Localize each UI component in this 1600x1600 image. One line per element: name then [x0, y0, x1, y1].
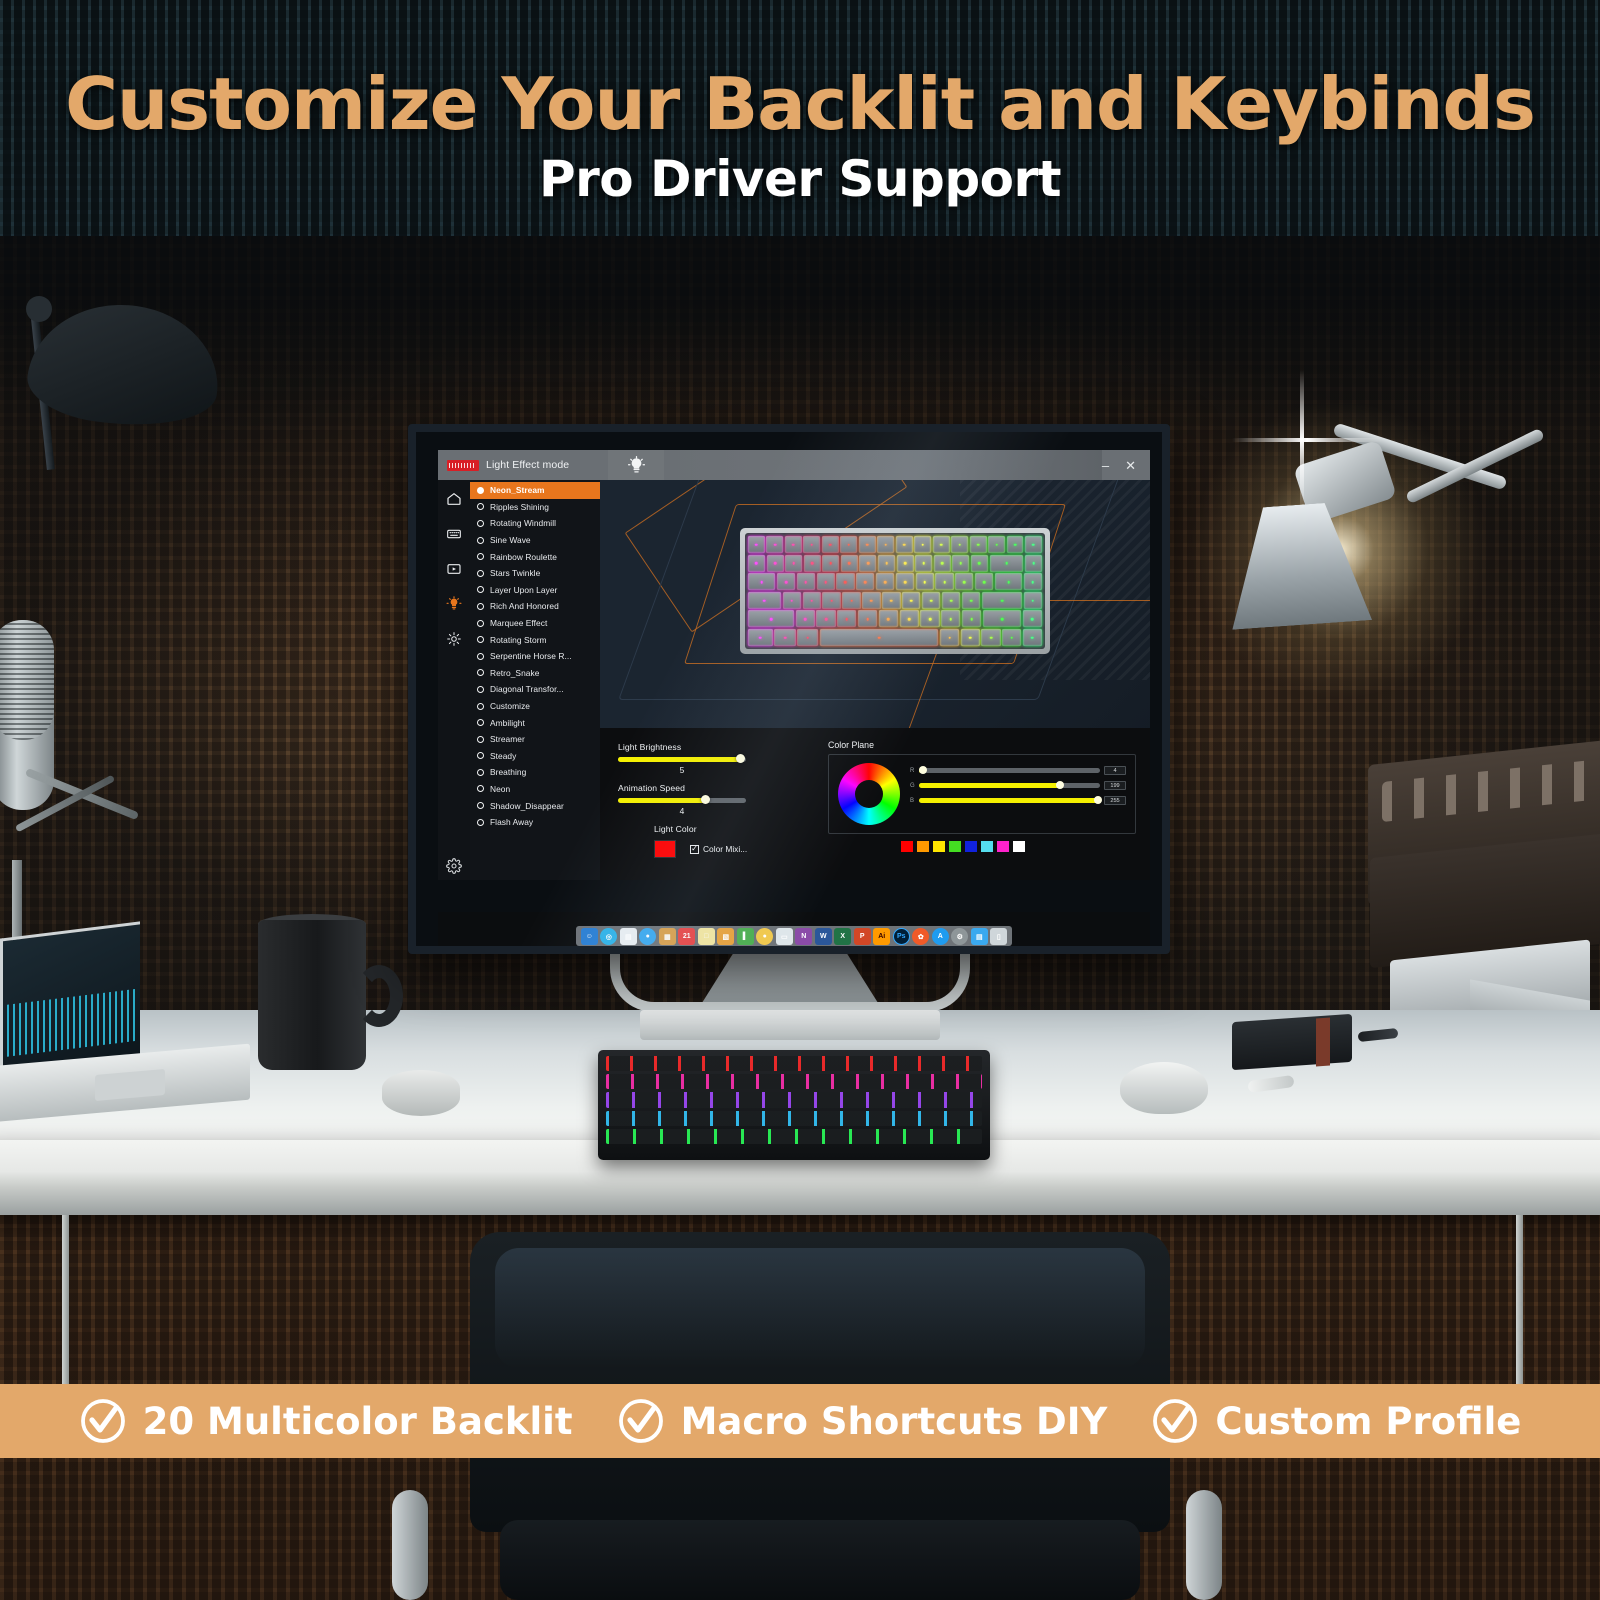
- key-led: [978, 562, 981, 565]
- key-led: [995, 544, 998, 547]
- speed-label: Animation Speed: [618, 783, 820, 793]
- effect-item[interactable]: Marquee Effect: [470, 615, 600, 632]
- dock-icon-glyph: N: [801, 933, 806, 940]
- promo-subheadline: Pro Driver Support: [0, 150, 1600, 208]
- effect-item[interactable]: Retro_Snake: [470, 665, 600, 682]
- dock-icon-glyph: A: [938, 933, 943, 940]
- color-swatch[interactable]: [996, 840, 1010, 853]
- radio-icon[interactable]: [477, 719, 484, 726]
- keycap: [748, 573, 775, 590]
- keycap: [777, 573, 795, 590]
- dock-item-pages[interactable]: ▭: [776, 928, 793, 945]
- rgb-slider-knob[interactable]: [919, 766, 927, 774]
- titlebar-brand-area: Light Effect mode: [438, 450, 608, 480]
- key-led: [806, 637, 809, 640]
- dock-item-illustrator[interactable]: Ai: [873, 928, 890, 945]
- dock-item-word[interactable]: W: [815, 928, 832, 945]
- dock-item-files[interactable]: ▧: [717, 928, 734, 945]
- effect-item[interactable]: Streamer: [470, 731, 600, 748]
- effect-item[interactable]: Flash Away: [470, 814, 600, 831]
- effect-item-label: Shadow_Disappear: [490, 801, 564, 811]
- key-led: [1007, 581, 1010, 584]
- key-led: [1031, 637, 1034, 640]
- app-title: Light Effect mode: [486, 459, 569, 471]
- keycap: [882, 592, 900, 609]
- radio-icon[interactable]: [477, 553, 484, 560]
- mug-handle: [355, 965, 403, 1027]
- keycap: [820, 629, 939, 646]
- checkbox-box: ✓: [690, 845, 699, 854]
- effect-item-label: Neon: [490, 784, 510, 794]
- rgb-slider[interactable]: [919, 783, 1100, 788]
- color-swatch[interactable]: [1012, 840, 1026, 853]
- effect-item-label: Steady: [490, 751, 516, 761]
- keycap: [962, 592, 980, 609]
- radio-icon[interactable]: [477, 819, 484, 826]
- key-led: [908, 618, 911, 621]
- keycap: [940, 629, 959, 646]
- radio-icon[interactable]: [477, 487, 484, 494]
- effect-item[interactable]: Ripples Shining: [470, 499, 600, 516]
- key-led: [990, 637, 993, 640]
- key-led: [804, 618, 807, 621]
- preset-color-swatches[interactable]: [900, 840, 1136, 853]
- rgb-slider-knob[interactable]: [1094, 796, 1102, 804]
- rgb-channel-list[interactable]: R4G199B255: [910, 763, 1126, 825]
- keycap: [935, 573, 953, 590]
- keycap: [896, 536, 913, 553]
- dock-icon-glyph: ▤: [625, 933, 632, 941]
- effect-item[interactable]: Rotating Storm: [470, 631, 600, 648]
- rgb-slider[interactable]: [919, 768, 1100, 773]
- dock-item-powerpoint[interactable]: P: [854, 928, 871, 945]
- key-led: [830, 599, 833, 602]
- key-led: [884, 581, 887, 584]
- effect-item-label: Rainbow Roulette: [490, 552, 557, 562]
- key-led: [811, 544, 814, 547]
- key-led: [950, 618, 953, 621]
- keycap: [1024, 592, 1042, 609]
- radio-icon[interactable]: [477, 653, 484, 660]
- sidebar-item-macro[interactable]: [445, 559, 464, 578]
- radio-icon[interactable]: [477, 636, 484, 643]
- color-wheel[interactable]: [838, 763, 900, 825]
- radio-icon[interactable]: [477, 703, 484, 710]
- keycap: [879, 610, 898, 627]
- effect-item-label: Marquee Effect: [490, 618, 547, 628]
- brightness-speed-column: Light Brightness 5 Animation Speed 4 L: [600, 728, 820, 880]
- keycap: [902, 592, 920, 609]
- check-circle-icon: [79, 1397, 127, 1445]
- effect-item-label: Layer Upon Layer: [490, 585, 557, 595]
- left-lamp-pivot: [26, 296, 52, 322]
- color-swatch[interactable]: [932, 840, 946, 853]
- keycap: [817, 573, 835, 590]
- sidebar-item-keyboard[interactable]: [445, 524, 464, 543]
- dock-items[interactable]: ☺◎▤●▦21□▧▌●▭NWXPAiPs✿A⚙▤▯: [576, 926, 1013, 946]
- dock-icon-glyph: □: [704, 933, 708, 940]
- dock-icon-glyph: ▌: [743, 933, 748, 940]
- feature-item: 20 Multicolor Backlit: [79, 1397, 573, 1445]
- keycap: [877, 536, 894, 553]
- dock-icon-glyph: ▤: [976, 933, 983, 941]
- rgb-channel-row[interactable]: G199: [910, 781, 1126, 790]
- keycap: [920, 610, 939, 627]
- dock-item-preferences[interactable]: ⚙: [951, 928, 968, 945]
- effect-item-label: Flash Away: [490, 817, 533, 827]
- radio-icon[interactable]: [477, 785, 484, 792]
- keycap: [951, 536, 968, 553]
- dock-icon-glyph: 21: [683, 933, 691, 940]
- color-swatch[interactable]: [900, 840, 914, 853]
- key-led: [948, 637, 951, 640]
- color-swatch[interactable]: [948, 840, 962, 853]
- keycap: [975, 573, 993, 590]
- light-color-row: ✓ Color Mixi...: [654, 840, 820, 858]
- app-titlebar: Light Effect mode – ✕: [438, 450, 1150, 480]
- light-color-label: Light Color: [654, 824, 820, 834]
- key-led: [1032, 562, 1035, 565]
- effect-item[interactable]: Diagonal Transfor...: [470, 681, 600, 698]
- key-led: [825, 618, 828, 621]
- dock-item-trash[interactable]: ▯: [990, 928, 1007, 945]
- radio-icon[interactable]: [477, 520, 484, 527]
- keycap: [941, 610, 960, 627]
- dock-item-photoshop[interactable]: Ps: [893, 928, 910, 945]
- radio-icon[interactable]: [477, 503, 484, 510]
- color-plane-box: R4G199B255: [828, 754, 1136, 834]
- minimize-button[interactable]: –: [1102, 459, 1109, 472]
- keycap: [858, 610, 877, 627]
- dock-item-photos[interactable]: ✿: [912, 928, 929, 945]
- key-led: [810, 599, 813, 602]
- keycap: [797, 629, 818, 646]
- lightbulb-icon[interactable]: [608, 450, 664, 480]
- key-led: [1032, 581, 1035, 584]
- dock-icon-glyph: ▭: [781, 933, 788, 941]
- keycap: [856, 573, 874, 590]
- key-led: [870, 599, 873, 602]
- titlebar-filler: [664, 450, 1102, 480]
- dock-item-launchpad[interactable]: ●: [639, 928, 656, 945]
- keycap: [961, 629, 980, 646]
- rgb-value-box[interactable]: 4: [1104, 766, 1126, 775]
- computer-mouse: [1120, 1062, 1208, 1114]
- dock-icon-glyph: P: [860, 933, 865, 940]
- key-led: [922, 562, 925, 565]
- dock-item-appstore[interactable]: A: [932, 928, 949, 945]
- keycap: [803, 592, 821, 609]
- keycap: [783, 592, 801, 609]
- sidebar-item-settings[interactable]: [445, 861, 464, 880]
- macos-dock[interactable]: ☺◎▤●▦21□▧▌●▭NWXPAiPs✿A⚙▤▯: [438, 912, 1150, 946]
- key-led: [885, 562, 888, 565]
- key-led: [904, 581, 907, 584]
- effect-item[interactable]: Breathing: [470, 764, 600, 781]
- notebook-band: [1316, 1018, 1330, 1067]
- effect-item[interactable]: Sine Wave: [470, 532, 600, 549]
- keycap: [955, 573, 973, 590]
- effect-item[interactable]: Rainbow Roulette: [470, 548, 600, 565]
- keyboard-preview[interactable]: [740, 528, 1050, 654]
- radio-icon[interactable]: [477, 620, 484, 627]
- speed-slider[interactable]: [618, 798, 746, 803]
- keycap: [859, 536, 876, 553]
- effect-item-label: Rotating Storm: [490, 635, 547, 645]
- rgb-channel-letter: G: [910, 783, 915, 789]
- close-button[interactable]: ✕: [1125, 459, 1136, 472]
- color-swatch[interactable]: [980, 840, 994, 853]
- effect-item-label: Stars Twinkle: [490, 568, 540, 578]
- effect-item-label: Ripples Shining: [490, 502, 549, 512]
- brightness-value: 5: [618, 765, 746, 775]
- keycap: [900, 610, 919, 627]
- dock-icon-glyph: W: [820, 933, 827, 940]
- effect-item-label: Diagonal Transfor...: [490, 684, 564, 694]
- key-led: [929, 618, 932, 621]
- effect-item[interactable]: Layer Upon Layer: [470, 582, 600, 599]
- rgb-slider[interactable]: [919, 798, 1100, 803]
- keycap: [995, 573, 1022, 590]
- key-led: [884, 544, 887, 547]
- chair-highlight: [495, 1248, 1145, 1368]
- speed-knob[interactable]: [701, 795, 710, 804]
- rgb-slider-fill: [919, 783, 1060, 788]
- effect-item-label: Retro_Snake: [490, 668, 539, 678]
- color-mixing-label: Color Mixi...: [703, 844, 747, 854]
- keycap: [785, 555, 802, 572]
- effect-item[interactable]: Ambilight: [470, 714, 600, 731]
- dock-icon-glyph: ●: [646, 933, 650, 940]
- keycap: [785, 536, 802, 553]
- keycap: [982, 592, 1022, 609]
- lamp-flare-horizontal: [1232, 438, 1382, 442]
- key-led: [943, 581, 946, 584]
- radio-icon[interactable]: [477, 686, 484, 693]
- light-color-swatch[interactable]: [654, 840, 676, 858]
- sidebar-item-home[interactable]: [445, 489, 464, 508]
- laptop-audio-waveform: [7, 989, 137, 1057]
- feature-item: Custom Profile: [1151, 1397, 1521, 1445]
- rgb-slider-fill: [919, 798, 1098, 803]
- key-led: [792, 562, 795, 565]
- feature-item: Macro Shortcuts DIY: [617, 1397, 1108, 1445]
- feature-label: 20 Multicolor Backlit: [143, 1400, 573, 1443]
- radio-icon[interactable]: [477, 586, 484, 593]
- dock-item-notes[interactable]: ▦: [659, 928, 676, 945]
- dock-icon-glyph: ●: [763, 933, 767, 940]
- key-led: [960, 562, 963, 565]
- radio-icon[interactable]: [477, 769, 484, 776]
- effect-item[interactable]: Steady: [470, 748, 600, 765]
- keycap: [748, 592, 781, 609]
- keycap: [942, 592, 960, 609]
- chair-armrest-right: [1186, 1490, 1222, 1600]
- lightbulb-icon: [446, 596, 462, 612]
- effect-item[interactable]: Neon_Stream: [470, 482, 600, 499]
- keycap: [952, 555, 969, 572]
- physical-rgb-keyboard: [598, 1050, 990, 1160]
- effect-item[interactable]: Stars Twinkle: [470, 565, 600, 582]
- dock-icon-glyph: X: [840, 933, 845, 940]
- keycap: [862, 592, 880, 609]
- effect-item[interactable]: Shadow_Disappear: [470, 797, 600, 814]
- rgb-value-box[interactable]: 199: [1104, 781, 1126, 790]
- feature-label: Custom Profile: [1215, 1400, 1521, 1443]
- keycap: [916, 573, 934, 590]
- radio-icon[interactable]: [477, 570, 484, 577]
- keyboard-row: [748, 629, 1042, 646]
- effect-item-label: Neon_Stream: [490, 485, 545, 495]
- radio-icon[interactable]: [477, 736, 484, 743]
- rgb-channel-row[interactable]: B255: [910, 796, 1126, 805]
- keycap: [822, 536, 839, 553]
- brightness-fill: [618, 757, 741, 762]
- dock-item-qq[interactable]: ●: [756, 928, 773, 945]
- key-led: [970, 618, 973, 621]
- effect-item-label: Serpentine Horse R...: [490, 651, 572, 661]
- color-plane-column: Color Plane R4G199B255: [820, 728, 1150, 880]
- key-led: [1032, 599, 1035, 602]
- keycap: [1023, 629, 1042, 646]
- keycap: [822, 592, 840, 609]
- sidebar-item-lighting-settings[interactable]: [445, 629, 464, 648]
- dock-item-downloads[interactable]: ▤: [971, 928, 988, 945]
- dock-item-numbers[interactable]: ▌: [737, 928, 754, 945]
- key-led: [1005, 562, 1008, 565]
- key-led: [921, 544, 924, 547]
- keyboard-row: [748, 592, 1042, 609]
- window-controls: – ✕: [1102, 450, 1150, 480]
- keycap: [876, 573, 894, 590]
- keycap: [841, 555, 858, 572]
- macro-icon: [446, 561, 462, 577]
- keycap: [836, 573, 854, 590]
- settings-panel: Light Brightness 5 Animation Speed 4 L: [600, 728, 1150, 880]
- rgb-value-box[interactable]: 255: [1104, 796, 1126, 805]
- key-led: [969, 637, 972, 640]
- keycap: [922, 592, 940, 609]
- radio-icon[interactable]: [477, 603, 484, 610]
- key-led: [763, 599, 766, 602]
- key-led: [878, 637, 881, 640]
- brightness-slider[interactable]: [618, 757, 746, 762]
- key-led: [923, 581, 926, 584]
- rgb-slider-knob[interactable]: [1056, 781, 1064, 789]
- radio-icon[interactable]: [477, 752, 484, 759]
- keycap: [1023, 610, 1042, 627]
- effect-item-label: Streamer: [490, 734, 525, 744]
- effect-item[interactable]: Neon: [470, 781, 600, 798]
- keyboard-row: [748, 536, 1042, 553]
- monitor-base: [640, 1010, 940, 1040]
- radio-icon[interactable]: [477, 802, 484, 809]
- dock-icon-glyph: ▦: [664, 933, 671, 941]
- dock-icon-glyph: ◎: [606, 933, 612, 941]
- color-mixing-checkbox[interactable]: ✓ Color Mixi...: [690, 844, 747, 854]
- effect-item[interactable]: Rotating Windmill: [470, 515, 600, 532]
- keycap: [767, 555, 784, 572]
- radio-icon[interactable]: [477, 537, 484, 544]
- dock-item-contacts[interactable]: ▤: [620, 928, 637, 945]
- key-led: [950, 599, 953, 602]
- keycap: [837, 610, 856, 627]
- effect-item-label: Rich And Honored: [490, 601, 559, 611]
- keycap: [1002, 629, 1021, 646]
- effect-item[interactable]: Serpentine Horse R...: [470, 648, 600, 665]
- dock-item-calendar[interactable]: 21: [678, 928, 695, 945]
- key-led: [790, 599, 793, 602]
- gear-icon: [446, 858, 462, 874]
- keycap: [1007, 536, 1024, 553]
- effect-item[interactable]: Rich And Honored: [470, 598, 600, 615]
- key-led: [970, 599, 973, 602]
- key-led: [1032, 544, 1035, 547]
- desktop-monitor: Light Effect mode – ✕: [408, 424, 1170, 954]
- rgb-channel-row[interactable]: R4: [910, 766, 1126, 775]
- chair-seat: [500, 1520, 1140, 1600]
- dock-item-stickies[interactable]: □: [698, 928, 715, 945]
- light-effect-list[interactable]: Neon_StreamRipples ShiningRotating Windm…: [470, 480, 600, 880]
- keycap: [796, 610, 815, 627]
- key-led: [890, 599, 893, 602]
- dock-item-onenote[interactable]: N: [795, 928, 812, 945]
- key-led: [848, 562, 851, 565]
- brightness-label: Light Brightness: [618, 742, 820, 752]
- key-led: [1001, 618, 1004, 621]
- rgb-driver-application[interactable]: Light Effect mode – ✕: [438, 450, 1150, 880]
- keycap: [971, 555, 988, 572]
- keycap: [804, 555, 821, 572]
- coffee-mug: [258, 920, 366, 1070]
- dock-item-excel[interactable]: X: [834, 928, 851, 945]
- keycap: [934, 555, 951, 572]
- key-led: [792, 544, 795, 547]
- brightness-knob[interactable]: [736, 754, 745, 763]
- key-led: [785, 581, 788, 584]
- rk-logo-icon: [447, 460, 479, 471]
- microphone-grill: [0, 620, 54, 740]
- dock-icon-glyph: Ps: [897, 933, 906, 940]
- check-circle-icon: [617, 1397, 665, 1445]
- keycap: [981, 629, 1000, 646]
- sidebar-item-light-effect[interactable]: [445, 594, 464, 613]
- keyboard-row: [748, 573, 1042, 590]
- color-swatch[interactable]: [916, 840, 930, 853]
- dock-item-safari[interactable]: ◎: [600, 928, 617, 945]
- keycap: [983, 610, 1021, 627]
- color-swatch[interactable]: [964, 840, 978, 853]
- check-circle-icon: [1151, 1397, 1199, 1445]
- keycap: [859, 555, 876, 572]
- lamp-flare-vertical: [1300, 370, 1304, 510]
- keycap: [840, 536, 857, 553]
- key-led: [774, 562, 777, 565]
- desk-leg-left: [62, 1215, 69, 1405]
- key-led: [910, 599, 913, 602]
- keycap: [897, 555, 914, 572]
- effect-item-label: Sine Wave: [490, 535, 531, 545]
- effect-item-label: Customize: [490, 701, 530, 711]
- effect-item[interactable]: Customize: [470, 698, 600, 715]
- dock-icon-glyph: ✿: [918, 933, 924, 941]
- dock-item-finder[interactable]: ☺: [581, 928, 598, 945]
- speed-value: 4: [618, 806, 746, 816]
- key-led: [811, 562, 814, 565]
- radio-icon[interactable]: [477, 669, 484, 676]
- keycap: [962, 610, 981, 627]
- key-led: [774, 544, 777, 547]
